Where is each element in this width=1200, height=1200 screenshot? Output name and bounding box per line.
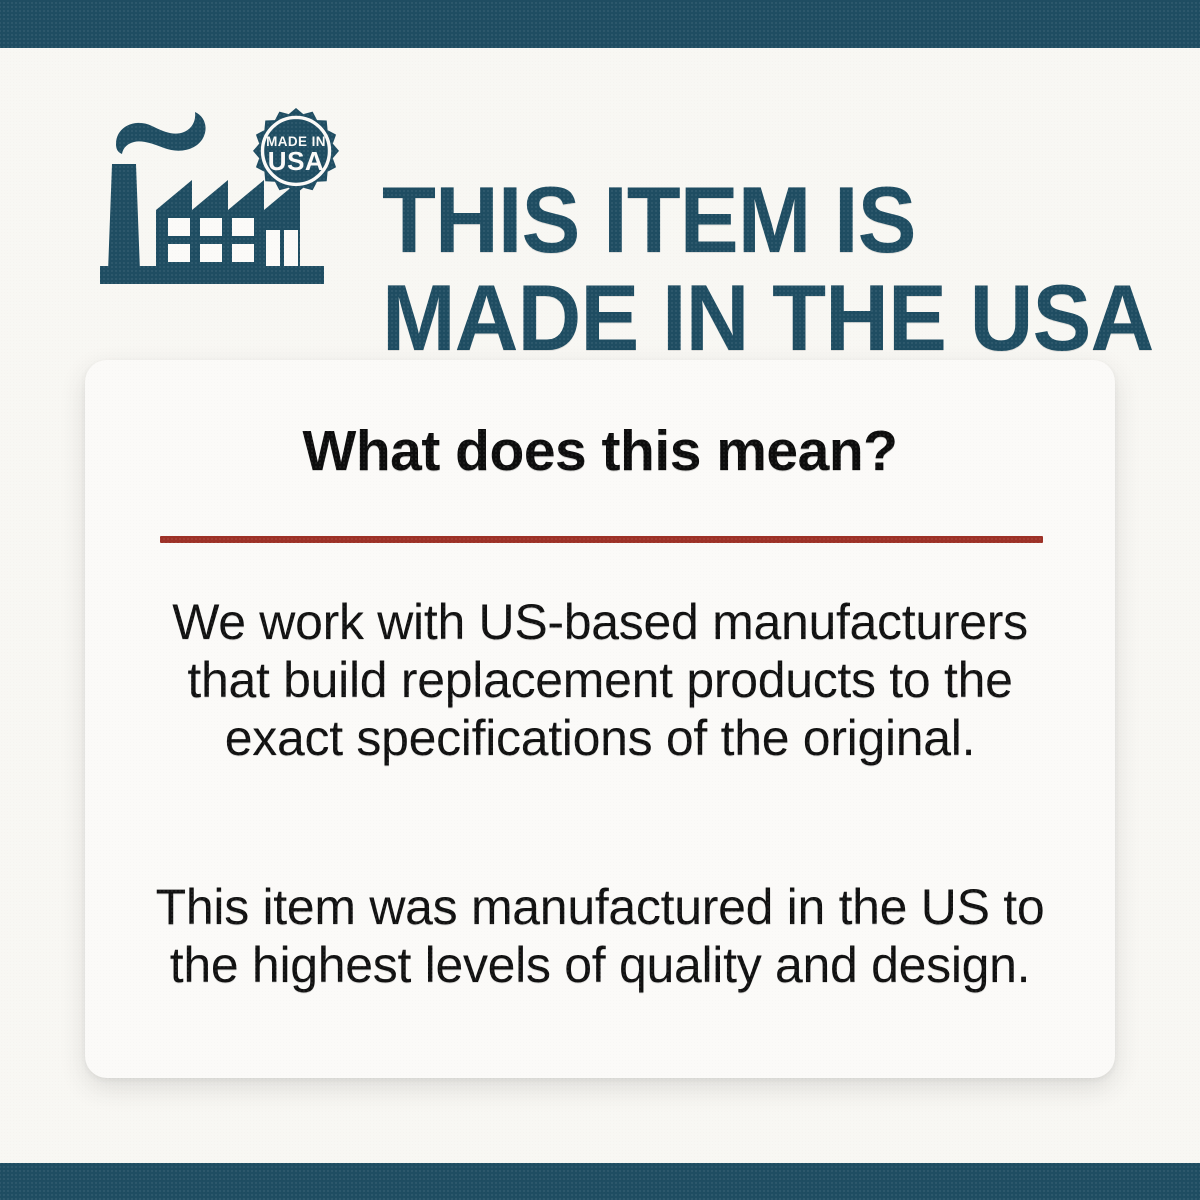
header-section: MADE IN USA THIS ITEM IS MADE IN THE USA: [0, 48, 1200, 298]
top-accent-bar: [0, 0, 1200, 48]
factory-window: [200, 244, 222, 262]
factory-logo: MADE IN USA: [100, 106, 340, 284]
paragraph-2-line-1: This item was manufactured in the US to: [145, 878, 1055, 936]
factory-window: [232, 244, 254, 262]
factory-base-icon: [100, 266, 324, 284]
factory-window: [200, 218, 222, 236]
made-in-usa-banner: MADE IN USA THIS ITEM IS MADE IN THE USA…: [0, 0, 1200, 1200]
page-title-line-1: THIS ITEM IS: [382, 171, 1125, 269]
explanation-card: What does this mean? We work with US-bas…: [85, 360, 1115, 1078]
card-heading: What does this mean?: [85, 418, 1115, 484]
paragraph-1-line-2: that build replacement products to the: [145, 651, 1055, 709]
chimney-icon: [108, 164, 140, 272]
factory-window: [168, 218, 190, 236]
card-divider: [160, 536, 1043, 543]
factory-window: [168, 244, 190, 262]
card-paragraph-2: This item was manufactured in the US to …: [145, 878, 1055, 994]
paragraph-1-line-1: We work with US-based manufacturers: [145, 593, 1055, 651]
paragraph-2-line-2: the highest levels of quality and design…: [145, 936, 1055, 994]
page-title: THIS ITEM IS MADE IN THE USA: [382, 171, 1125, 367]
made-in-usa-badge-icon: MADE IN USA: [253, 108, 339, 194]
bottom-accent-bar: [0, 1163, 1200, 1200]
page-title-line-2: MADE IN THE USA: [382, 269, 1125, 367]
paragraph-1-line-3: exact specifications of the original.: [145, 709, 1055, 767]
badge-usa-label: USA: [268, 146, 324, 176]
factory-window: [232, 218, 254, 236]
smoke-plume-icon: [116, 112, 206, 154]
factory-door-panel: [266, 230, 280, 266]
factory-door-panel: [284, 230, 298, 266]
card-paragraph-1: We work with US-based manufacturers that…: [145, 593, 1055, 767]
